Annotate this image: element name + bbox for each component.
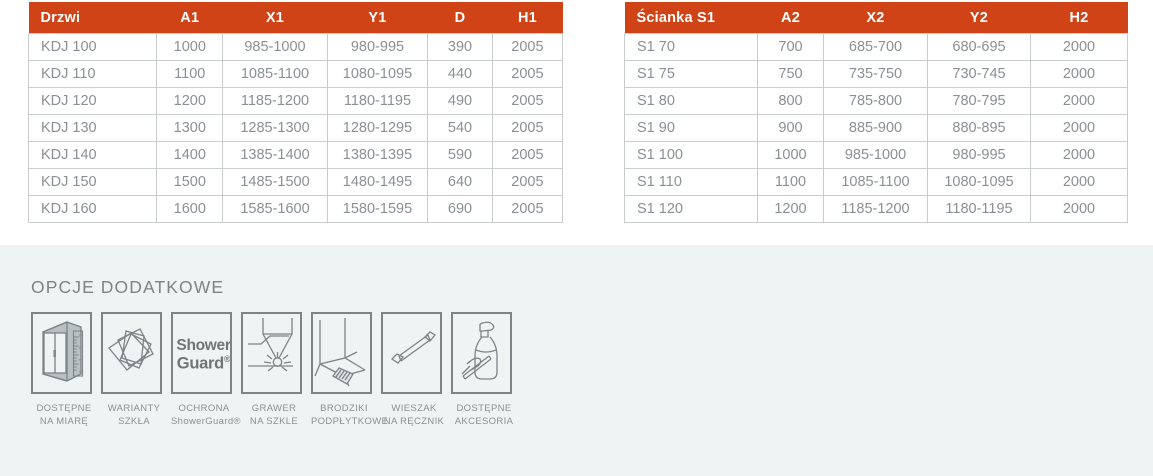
- option-caption-line1: GRAWER: [252, 403, 297, 414]
- cell-h2: 2000: [1031, 169, 1128, 196]
- option-caption-line1: DOSTĘPNE: [36, 403, 91, 414]
- option-caption-line2: ShowerGuard®: [171, 416, 237, 429]
- table-row: KDJ 140 1400 1385-1400 1380-1395 590 200…: [29, 142, 563, 169]
- cell-a2: 1000: [758, 142, 824, 169]
- cell-h1: 2005: [492, 88, 562, 115]
- engraving-tool-icon: [241, 312, 302, 394]
- options-section-title: OPCJE DODATKOWE: [31, 277, 224, 298]
- cell-model: KDJ 120: [29, 88, 157, 115]
- shower-tray-icon: [311, 312, 372, 394]
- option-item-wieszak-na-recznik[interactable]: WIESZAK NA RĘCZNIK: [381, 312, 451, 428]
- cell-h2: 2000: [1031, 142, 1128, 169]
- table-row: S1 70 700 685-700 680-695 2000: [625, 34, 1128, 61]
- option-caption-line1: BRODZIKI: [320, 403, 368, 414]
- cell-a1: 1600: [157, 196, 223, 223]
- cell-a1: 1100: [157, 61, 223, 88]
- column-header-a2: A2: [758, 2, 824, 34]
- scianka-dimensions-table: Ścianka S1 A2 X2 Y2 H2 S1 70 700 685-700…: [624, 2, 1128, 223]
- cell-d: 590: [428, 142, 493, 169]
- cell-a1: 1500: [157, 169, 223, 196]
- cell-a2: 750: [758, 61, 824, 88]
- cell-y1: 980-995: [327, 34, 427, 61]
- option-caption: WIESZAK NA RĘCZNIK: [381, 403, 447, 428]
- cell-y1: 1380-1395: [327, 142, 427, 169]
- option-caption-line2: AKCESORIA: [451, 416, 517, 429]
- cell-a2: 1200: [758, 196, 824, 223]
- table-row: KDJ 110 1100 1085-1100 1080-1095 440 200…: [29, 61, 563, 88]
- cleaning-spray-squeegee-icon: [451, 312, 512, 394]
- cell-x1: 1585-1600: [223, 196, 328, 223]
- cell-y2: 880-895: [928, 115, 1031, 142]
- option-caption-line1: DOSTĘPNE: [456, 403, 511, 414]
- cell-y2: 1180-1195: [928, 196, 1031, 223]
- cell-a2: 900: [758, 115, 824, 142]
- cell-h1: 2005: [492, 34, 562, 61]
- option-item-brodziki-podplytkowe[interactable]: BRODZIKI PODPŁYTKOWE: [311, 312, 381, 428]
- cell-a1: 1300: [157, 115, 223, 142]
- svg-text:2: 2: [79, 346, 85, 349]
- cell-model: S1 80: [625, 88, 758, 115]
- option-item-dostepne-na-miare[interactable]: 3 2 1 0 DOSTĘPNE NA MIARĘ: [31, 312, 101, 428]
- cell-h2: 2000: [1031, 115, 1128, 142]
- cell-h2: 2000: [1031, 34, 1128, 61]
- cell-h2: 2000: [1031, 88, 1128, 115]
- table-header-row: Ścianka S1 A2 X2 Y2 H2: [625, 2, 1128, 34]
- cell-model: S1 110: [625, 169, 758, 196]
- options-icon-row: 3 2 1 0 DOSTĘPNE NA MIARĘ: [31, 312, 521, 428]
- cell-d: 540: [428, 115, 493, 142]
- cell-a2: 1100: [758, 169, 824, 196]
- cell-model: KDJ 160: [29, 196, 157, 223]
- cell-x2: 735-750: [824, 61, 928, 88]
- table-row: S1 120 1200 1185-1200 1180-1195 2000: [625, 196, 1128, 223]
- column-header-a1: A1: [157, 2, 223, 34]
- cell-h2: 2000: [1031, 196, 1128, 223]
- dimension-tables-area: Drzwi A1 X1 Y1 D H1 KDJ 100 1000 985-100…: [0, 0, 1153, 245]
- table-header-row: Drzwi A1 X1 Y1 D H1: [29, 2, 563, 34]
- cell-model: S1 75: [625, 61, 758, 88]
- cell-model: KDJ 150: [29, 169, 157, 196]
- option-caption: DOSTĘPNE NA MIARĘ: [31, 403, 97, 428]
- cell-h2: 2000: [1031, 61, 1128, 88]
- cell-x1: 1385-1400: [223, 142, 328, 169]
- cell-d: 390: [428, 34, 493, 61]
- cell-a1: 1200: [157, 88, 223, 115]
- cell-a2: 800: [758, 88, 824, 115]
- column-header-scianka-s1: Ścianka S1: [625, 2, 758, 34]
- table-row: S1 75 750 735-750 730-745 2000: [625, 61, 1128, 88]
- option-caption: OCHRONA ShowerGuard®: [171, 403, 237, 428]
- cell-y2: 780-795: [928, 88, 1031, 115]
- cell-x1: 985-1000: [223, 34, 328, 61]
- table-row: KDJ 130 1300 1285-1300 1280-1295 540 200…: [29, 115, 563, 142]
- option-caption-line2: SZKŁA: [101, 416, 167, 429]
- cell-x2: 1085-1100: [824, 169, 928, 196]
- option-caption-line2: NA SZKLE: [241, 416, 307, 429]
- table-row: S1 110 1100 1085-1100 1080-1095 2000: [625, 169, 1128, 196]
- cell-h1: 2005: [492, 61, 562, 88]
- cell-model: S1 70: [625, 34, 758, 61]
- drzwi-dimensions-table: Drzwi A1 X1 Y1 D H1 KDJ 100 1000 985-100…: [28, 2, 563, 223]
- column-header-x2: X2: [824, 2, 928, 34]
- cell-y1: 1080-1095: [327, 61, 427, 88]
- option-caption-line1: OCHRONA: [178, 403, 229, 414]
- svg-text:3: 3: [79, 334, 85, 337]
- cell-h1: 2005: [492, 196, 562, 223]
- option-caption-line2: PODPŁYTKOWE: [311, 416, 377, 429]
- cell-y1: 1480-1495: [327, 169, 427, 196]
- column-header-x1: X1: [223, 2, 328, 34]
- cell-model: S1 120: [625, 196, 758, 223]
- glass-sheets-icon: [101, 312, 162, 394]
- cell-h1: 2005: [492, 115, 562, 142]
- cell-d: 490: [428, 88, 493, 115]
- table-row: KDJ 120 1200 1185-1200 1180-1195 490 200…: [29, 88, 563, 115]
- cell-y1: 1180-1195: [327, 88, 427, 115]
- column-header-drzwi: Drzwi: [29, 2, 157, 34]
- option-caption: GRAWER NA SZKLE: [241, 403, 307, 428]
- showerguard-logo-icon: Shower Guard®: [171, 312, 232, 394]
- option-item-dostepne-akcesoria[interactable]: DOSTĘPNE AKCESORIA: [451, 312, 521, 428]
- cell-d: 640: [428, 169, 493, 196]
- option-caption-line2: NA MIARĘ: [31, 416, 97, 429]
- column-header-h2: H2: [1031, 2, 1128, 34]
- option-caption-line1: WARIANTY: [108, 403, 161, 414]
- cell-x2: 685-700: [824, 34, 928, 61]
- cell-x1: 1485-1500: [223, 169, 328, 196]
- table-row: S1 80 800 785-800 780-795 2000: [625, 88, 1128, 115]
- shower-enclosure-ruler-icon: 3 2 1 0: [31, 312, 92, 394]
- svg-text:1: 1: [79, 358, 85, 361]
- cell-a1: 1000: [157, 34, 223, 61]
- column-header-y2: Y2: [928, 2, 1031, 34]
- table-row: KDJ 150 1500 1485-1500 1480-1495 640 200…: [29, 169, 563, 196]
- table-row: S1 90 900 885-900 880-895 2000: [625, 115, 1128, 142]
- cell-x1: 1085-1100: [223, 61, 328, 88]
- cell-model: S1 90: [625, 115, 758, 142]
- column-header-d: D: [428, 2, 493, 34]
- cell-h1: 2005: [492, 142, 562, 169]
- option-item-warianty-szkla[interactable]: WARIANTY SZKŁA: [101, 312, 171, 428]
- cell-a1: 1400: [157, 142, 223, 169]
- cell-d: 440: [428, 61, 493, 88]
- option-item-ochrona-showerguard[interactable]: Shower Guard® OCHRONA ShowerGuard®: [171, 312, 241, 428]
- cell-x1: 1285-1300: [223, 115, 328, 142]
- option-caption: WARIANTY SZKŁA: [101, 403, 167, 428]
- cell-x2: 785-800: [824, 88, 928, 115]
- cell-y2: 980-995: [928, 142, 1031, 169]
- cell-d: 690: [428, 196, 493, 223]
- column-header-y1: Y1: [327, 2, 427, 34]
- cell-y2: 730-745: [928, 61, 1031, 88]
- cell-model: KDJ 130: [29, 115, 157, 142]
- cell-model: KDJ 140: [29, 142, 157, 169]
- cell-model: KDJ 100: [29, 34, 157, 61]
- table-row: KDJ 160 1600 1585-1600 1580-1595 690 200…: [29, 196, 563, 223]
- svg-text:0: 0: [79, 370, 85, 373]
- table-row: KDJ 100 1000 985-1000 980-995 390 2005: [29, 34, 563, 61]
- showerguard-word-shower: Shower: [176, 338, 230, 354]
- cell-y2: 1080-1095: [928, 169, 1031, 196]
- registered-mark-icon: ®: [224, 354, 230, 364]
- showerguard-word-guard: Guard: [177, 355, 224, 373]
- cell-x2: 985-1000: [824, 142, 928, 169]
- cell-x2: 885-900: [824, 115, 928, 142]
- cell-model: S1 100: [625, 142, 758, 169]
- cell-x2: 1185-1200: [824, 196, 928, 223]
- cell-y1: 1580-1595: [327, 196, 427, 223]
- option-caption: DOSTĘPNE AKCESORIA: [451, 403, 517, 428]
- option-caption: BRODZIKI PODPŁYTKOWE: [311, 403, 377, 428]
- option-caption-line2: NA RĘCZNIK: [381, 416, 447, 429]
- cell-y1: 1280-1295: [327, 115, 427, 142]
- cell-model: KDJ 110: [29, 61, 157, 88]
- option-caption-line1: WIESZAK: [391, 403, 436, 414]
- column-header-h1: H1: [492, 2, 562, 34]
- cell-a2: 700: [758, 34, 824, 61]
- cell-h1: 2005: [492, 169, 562, 196]
- additional-options-panel: OPCJE DODATKOWE: [0, 245, 1153, 476]
- option-item-grawer-na-szkle[interactable]: GRAWER NA SZKLE: [241, 312, 311, 428]
- cell-x1: 1185-1200: [223, 88, 328, 115]
- table-row: S1 100 1000 985-1000 980-995 2000: [625, 142, 1128, 169]
- cell-y2: 680-695: [928, 34, 1031, 61]
- towel-rail-icon: [381, 312, 442, 394]
